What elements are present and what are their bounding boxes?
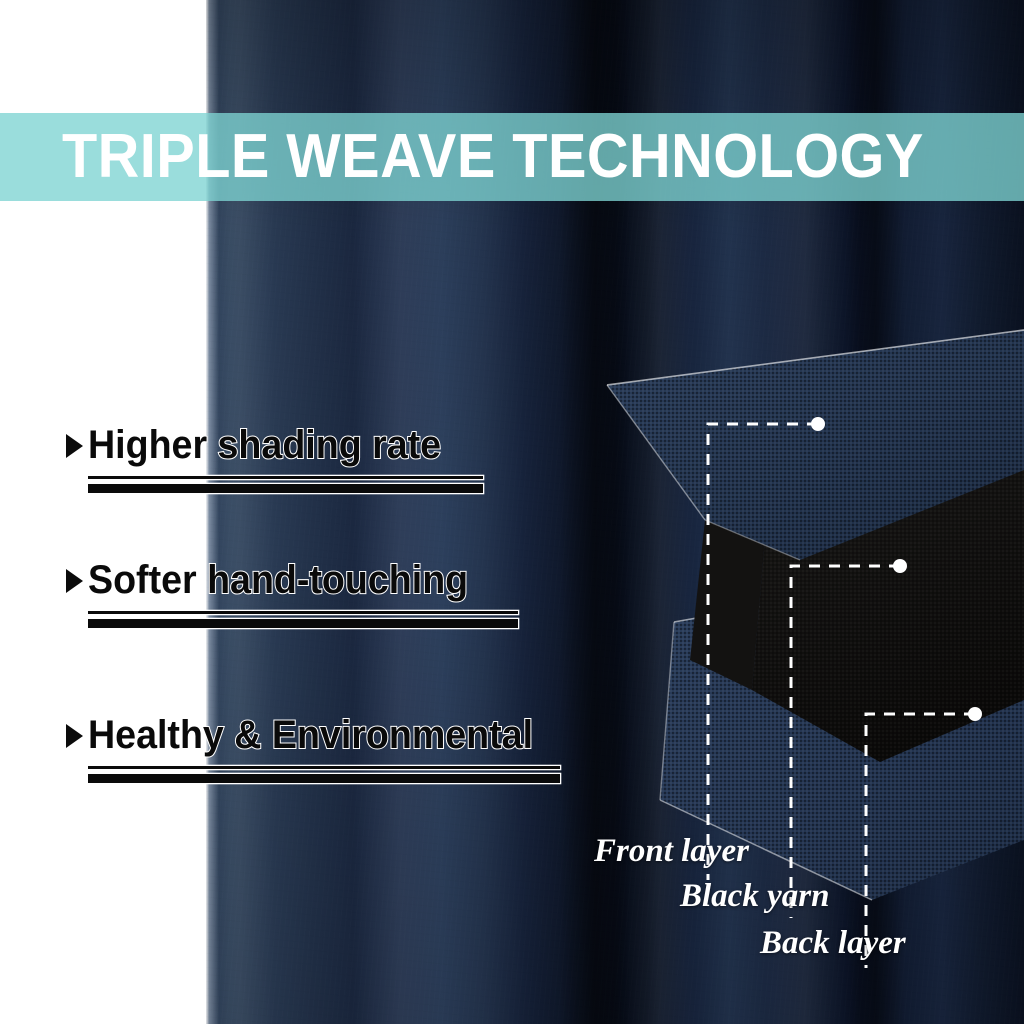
triangle-right-icon	[66, 724, 83, 748]
feature-underline	[88, 476, 483, 493]
feature-underline	[88, 611, 518, 628]
feature-text-0: Higher shading rate	[88, 423, 441, 467]
feature-list: Higher shading rate Softer hand-touching…	[0, 0, 1024, 1024]
underline-thick	[88, 619, 518, 628]
underline-thin	[88, 766, 560, 769]
underline-thin	[88, 476, 483, 479]
feature-item-0: Higher shading rate	[66, 423, 483, 493]
feature-underline	[88, 766, 560, 783]
triangle-right-icon	[66, 569, 83, 593]
underline-thin	[88, 611, 518, 614]
feature-item-1: Softer hand-touching	[66, 558, 518, 628]
feature-line: Softer hand-touching	[66, 558, 518, 602]
feature-text-2: Healthy & Environmental	[88, 713, 533, 757]
feature-line: Healthy & Environmental	[66, 713, 561, 757]
product-feature-image: Front layer Black yarn Back layer TRIPLE…	[0, 0, 1024, 1024]
underline-thick	[88, 774, 560, 783]
feature-item-2: Healthy & Environmental	[66, 713, 561, 783]
feature-line: Higher shading rate	[66, 423, 483, 467]
underline-thick	[88, 484, 483, 493]
feature-text-1: Softer hand-touching	[88, 558, 468, 602]
triangle-right-icon	[66, 434, 83, 458]
